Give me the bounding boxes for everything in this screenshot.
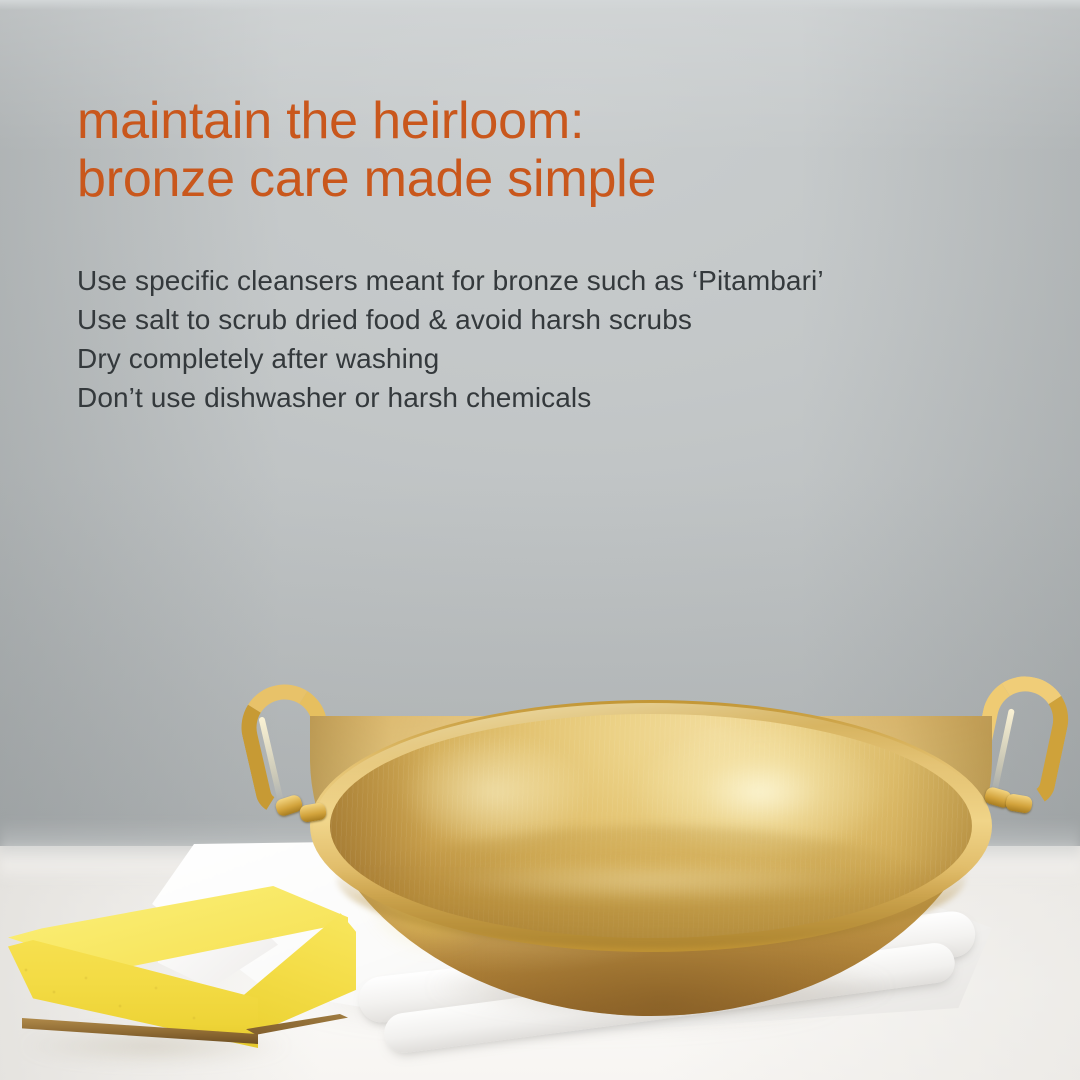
yellow-cleaning-sponge: [8, 886, 360, 1056]
bronze-care-poster: maintain the heirloom: bronze care made …: [0, 0, 1080, 1080]
kadai-body-sheen: [350, 852, 950, 910]
